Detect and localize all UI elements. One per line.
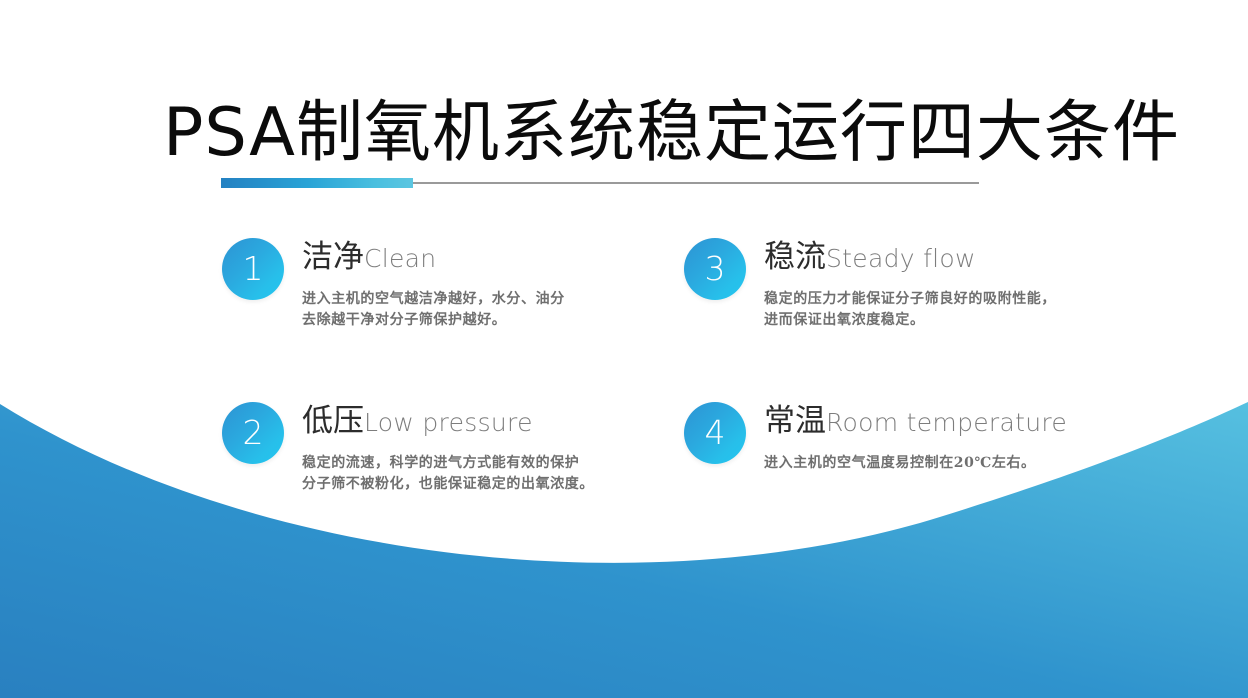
condition-description: 进入主机的空气温度易控制在20℃左右。 — [764, 453, 1067, 474]
condition-heading-en: Low pressure — [364, 408, 533, 437]
condition-number-badge: 4 — [684, 402, 746, 464]
condition-item-2: 2 低压Low pressure 稳定的流速，科学的进气方式能有效的保护 分子筛… — [222, 402, 594, 495]
title-rule-accent-bar — [221, 178, 413, 188]
condition-number-label: 2 — [243, 416, 264, 449]
condition-description: 进入主机的空气越洁净越好，水分、油分 去除越干净对分子筛保护越好。 — [302, 289, 565, 331]
condition-heading-en: Steady flow — [826, 244, 976, 273]
title-rule — [221, 178, 979, 188]
condition-body: 稳流Steady flow 稳定的压力才能保证分子筛良好的吸附性能， 进而保证出… — [764, 238, 1056, 331]
condition-description: 稳定的流速，科学的进气方式能有效的保护 分子筛不被粉化，也能保证稳定的出氧浓度。 — [302, 453, 594, 495]
condition-heading-en: Clean — [364, 244, 436, 273]
condition-heading: 洁净Clean — [302, 240, 565, 280]
condition-number-badge: 3 — [684, 238, 746, 300]
condition-heading-cn: 洁净 — [302, 239, 364, 275]
condition-heading: 常温Room temperature — [764, 404, 1067, 444]
condition-number-label: 3 — [705, 252, 726, 285]
condition-item-4: 4 常温Room temperature 进入主机的空气温度易控制在20℃左右。 — [684, 402, 1067, 474]
condition-number-label: 1 — [243, 252, 264, 285]
condition-description: 稳定的压力才能保证分子筛良好的吸附性能， 进而保证出氧浓度稳定。 — [764, 289, 1056, 331]
condition-heading-cn: 低压 — [302, 403, 364, 439]
condition-heading-cn: 稳流 — [764, 239, 826, 275]
title-rule-thin-line — [413, 182, 979, 184]
condition-heading-cn: 常温 — [764, 403, 826, 439]
condition-item-3: 3 稳流Steady flow 稳定的压力才能保证分子筛良好的吸附性能， 进而保… — [684, 238, 1056, 331]
slide-canvas: PSA制氧机系统稳定运行四大条件 1 洁净Clean 进入主机的空气越洁净越好，… — [0, 0, 1248, 698]
condition-body: 常温Room temperature 进入主机的空气温度易控制在20℃左右。 — [764, 402, 1067, 474]
condition-item-1: 1 洁净Clean 进入主机的空气越洁净越好，水分、油分 去除越干净对分子筛保护… — [222, 238, 565, 331]
condition-number-badge: 1 — [222, 238, 284, 300]
condition-heading: 低压Low pressure — [302, 404, 594, 444]
condition-number-label: 4 — [705, 416, 726, 449]
condition-number-badge: 2 — [222, 402, 284, 464]
condition-body: 低压Low pressure 稳定的流速，科学的进气方式能有效的保护 分子筛不被… — [302, 402, 594, 495]
page-title: PSA制氧机系统稳定运行四大条件 — [163, 94, 1180, 170]
condition-heading: 稳流Steady flow — [764, 240, 1056, 280]
condition-body: 洁净Clean 进入主机的空气越洁净越好，水分、油分 去除越干净对分子筛保护越好… — [302, 238, 565, 331]
condition-heading-en: Room temperature — [826, 408, 1067, 437]
